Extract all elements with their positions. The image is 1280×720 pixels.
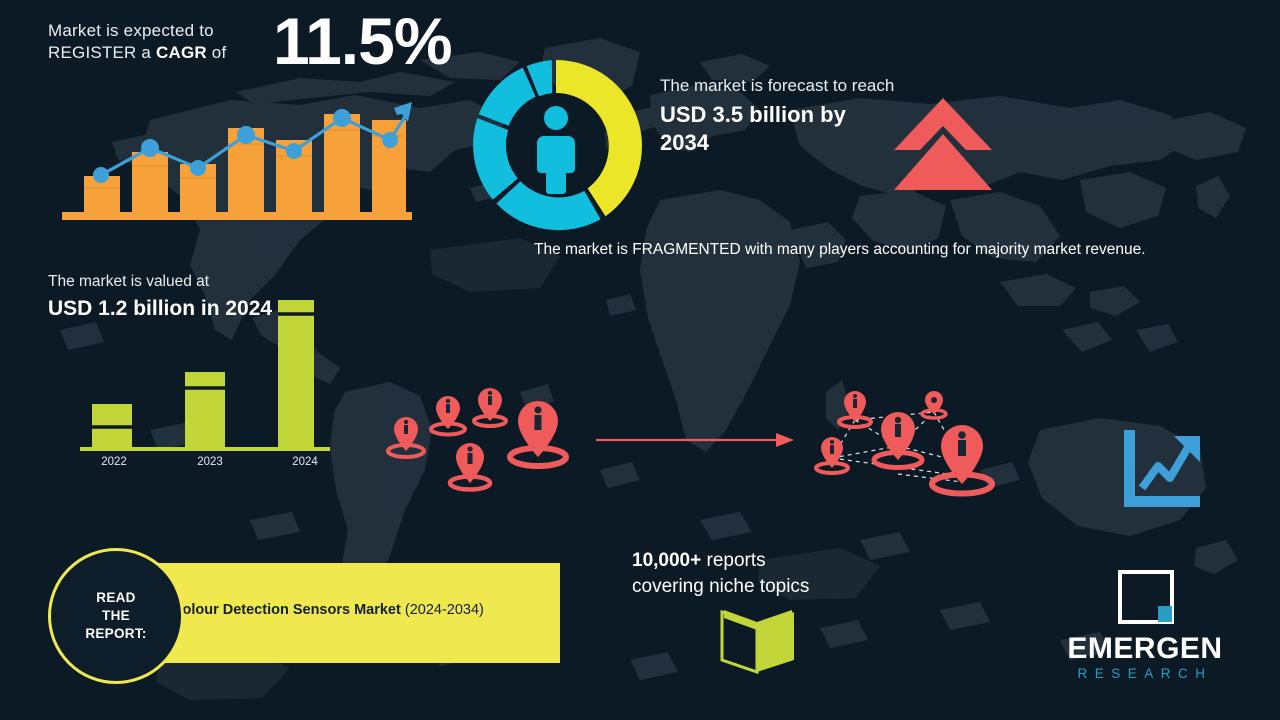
location-pin-icon: [388, 417, 424, 457]
value-chart-baseline: [80, 447, 330, 451]
reports-line1: 10,000+ reports: [632, 548, 892, 574]
badge-line3: REPORT:: [85, 626, 146, 641]
right-arrow-icon: [596, 430, 794, 450]
growth-bar-chart: [62, 88, 412, 224]
forecast-block: The market is forecast to reach USD 3.5 …: [660, 74, 900, 157]
cagr-lead-bold: CAGR: [156, 43, 207, 62]
report-years: (2024-2034): [405, 602, 484, 618]
forecast-lead-text: The market is forecast to reach: [660, 74, 900, 97]
bar-2023: [185, 372, 225, 448]
line-chart-arrow-icon: [1120, 428, 1204, 510]
report-title: Colour Detection Sensors Market: [172, 602, 401, 618]
open-book-icon: [718, 610, 796, 674]
reports-line2: covering niche topics: [632, 574, 892, 600]
forecast-value: USD 3.5 billion by 2034: [660, 101, 900, 157]
cagr-lead-line1: Market is expected to: [48, 21, 214, 40]
location-pin-icon: [450, 443, 490, 490]
location-pin-icon: [816, 437, 848, 473]
square-bracket-logo-icon: [1118, 570, 1174, 624]
read-the-report-label: READ THE REPORT:: [85, 589, 146, 643]
reports-line1-rest: reports: [701, 550, 765, 571]
location-pin-icon: [839, 391, 871, 427]
bar-2024: [278, 300, 314, 448]
reports-count: 10,000+: [632, 550, 701, 571]
valued-block: The market is valued at USD 1.2 billion …: [48, 272, 328, 322]
cagr-block: Market is expected to REGISTER a CAGR of…: [48, 20, 468, 64]
valued-value: USD 1.2 billion in 2024: [48, 295, 328, 322]
network-map-pins: [810, 390, 1010, 502]
year-label-2024: 2024: [275, 456, 335, 468]
badge-line1: READ: [96, 590, 135, 605]
emergen-research-logo: EMERGEN RESEARCH: [1040, 570, 1250, 700]
year-label-2023: 2023: [180, 456, 240, 468]
logo-subtitle: RESEARCH: [1040, 666, 1250, 681]
location-pin-icon: [932, 425, 992, 494]
location-pin-icon: [510, 401, 566, 466]
location-pin-icon: [922, 391, 946, 418]
cagr-lead-pre: REGISTER a: [48, 43, 156, 62]
location-pin-icon: [874, 412, 922, 468]
logo-name: EMERGEN: [1040, 632, 1250, 666]
market-share-donut: [466, 56, 646, 236]
report-title-text: Colour Detection Sensors Market (2024-20…: [172, 602, 484, 618]
badge-line2: THE: [102, 608, 130, 623]
scattered-map-pins: [380, 385, 590, 497]
double-chevron-up-icon: [888, 94, 998, 192]
chart-baseline: [62, 212, 412, 220]
valued-lead-text: The market is valued at: [48, 272, 328, 292]
year-label-2022: 2022: [84, 456, 144, 468]
cagr-lead-post: of: [207, 43, 227, 62]
cagr-lead-text: Market is expected to REGISTER a CAGR of: [48, 20, 263, 64]
reports-block: 10,000+ reports covering niche topics: [632, 548, 892, 600]
read-the-report-badge[interactable]: READ THE REPORT:: [48, 548, 184, 684]
fragmented-market-text: The market is FRAGMENTED with many playe…: [534, 238, 1224, 262]
cagr-value: 11.5%: [273, 8, 452, 74]
location-pin-icon: [474, 388, 506, 426]
location-pin-icon: [431, 396, 465, 435]
infographic-canvas: 2022 2023 2024: [0, 0, 1280, 720]
